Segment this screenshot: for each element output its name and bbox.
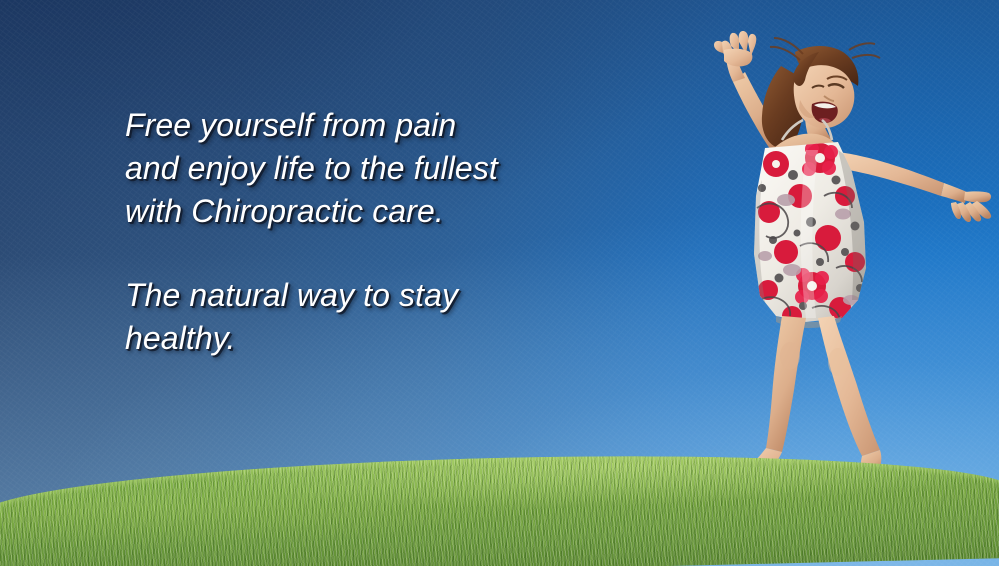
grass-field: [0, 456, 999, 566]
grass-top-edge: [0, 456, 999, 566]
headline-line-3: with Chiropractic care.: [125, 190, 595, 233]
marketing-copy-overlay: Free yourself from pain and enjoy life t…: [125, 104, 595, 360]
subhead-line-1: The natural way to stay: [125, 274, 595, 317]
woman-dress: [754, 120, 866, 334]
left-hand: [714, 31, 756, 66]
chiropractic-hero-banner: Free yourself from pain and enjoy life t…: [0, 0, 999, 566]
headline-line-1: Free yourself from pain: [125, 104, 595, 147]
woman-left-leg: [766, 316, 806, 452]
woman-right-leg: [818, 316, 880, 456]
subhead-line-2: healthy.: [125, 317, 595, 360]
woman-legs: [747, 316, 881, 479]
copy-spacer: [125, 233, 595, 274]
headline-line-2: and enjoy life to the fullest: [125, 147, 595, 190]
